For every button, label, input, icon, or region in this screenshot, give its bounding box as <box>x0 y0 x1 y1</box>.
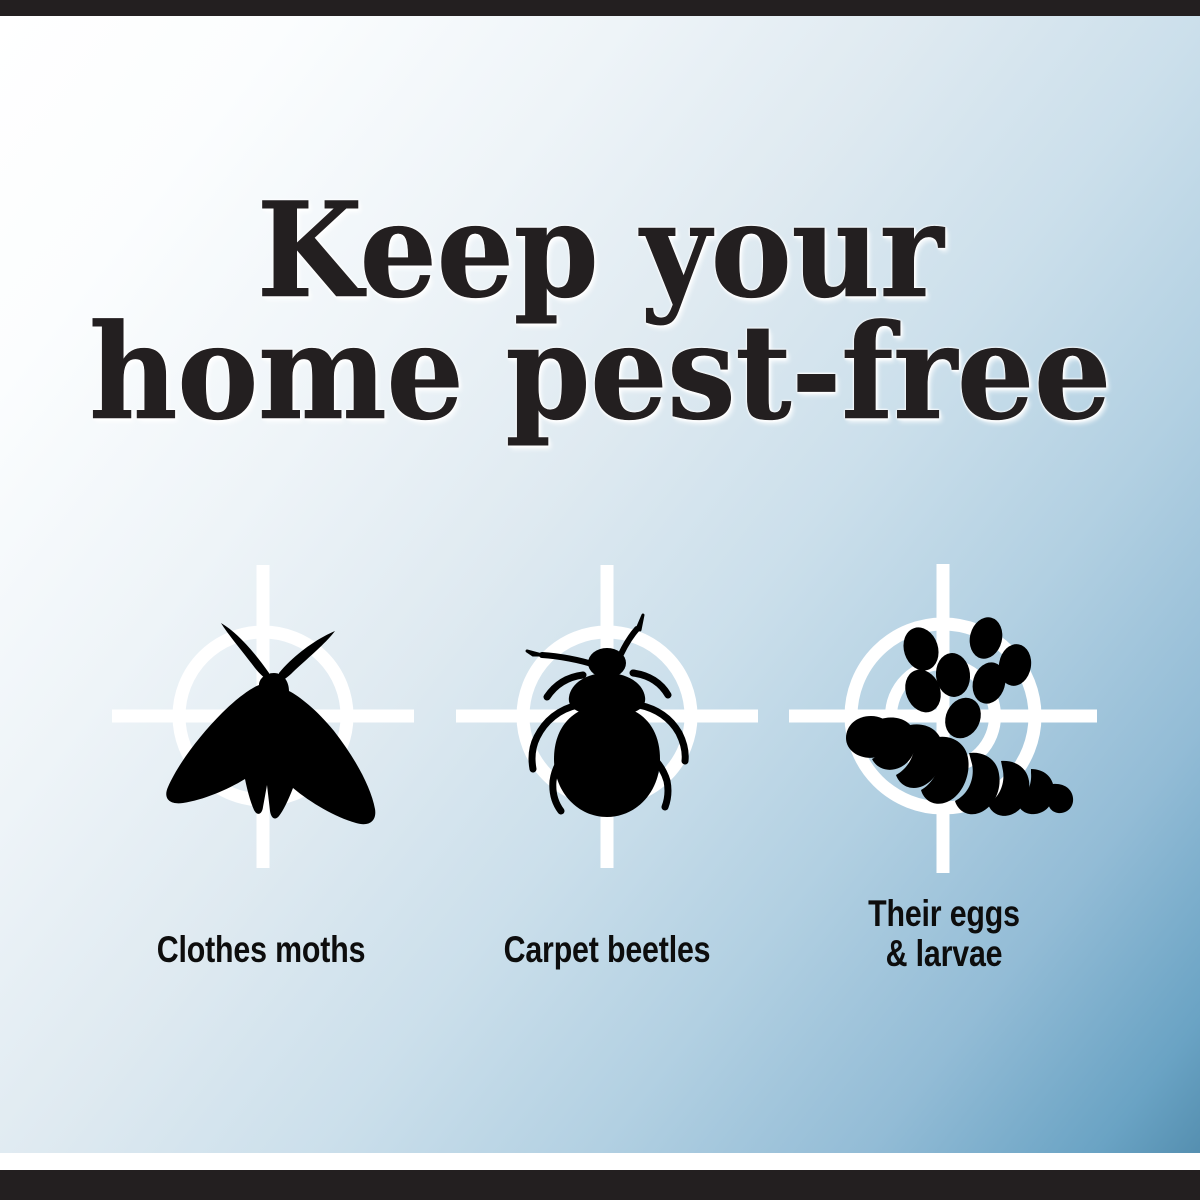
bottom-white-band <box>0 1153 1200 1170</box>
caption-carpet-beetles: Carpet beetles <box>476 930 738 970</box>
caption-eggs-larvae: Their eggs & larvae <box>813 894 1075 974</box>
pest-control-poster: Keep your home pest-free <box>0 0 1200 1200</box>
caption-line: Carpet beetles <box>476 930 738 970</box>
caption-line: Their eggs <box>813 894 1075 934</box>
pest-icon-carpet-beetles <box>447 555 767 885</box>
crosshair-reticle-icon <box>789 564 1097 873</box>
caption-line: & larvae <box>813 934 1075 974</box>
caption-clothes-moths: Clothes moths <box>130 930 392 970</box>
bottom-rule-bar <box>0 1170 1200 1200</box>
pest-caption-row: Clothes moths Carpet beetles Their eggs … <box>0 900 1200 1010</box>
top-rule-bar <box>0 0 1200 16</box>
page-title: Keep your home pest-free <box>0 186 1200 437</box>
caption-line: Clothes moths <box>130 930 392 970</box>
pest-icon-eggs-larvae <box>783 555 1103 885</box>
pest-icon-clothes-moths <box>103 555 423 885</box>
pest-icon-row <box>0 555 1200 895</box>
headline-line-2: home pest-free <box>42 308 1158 436</box>
